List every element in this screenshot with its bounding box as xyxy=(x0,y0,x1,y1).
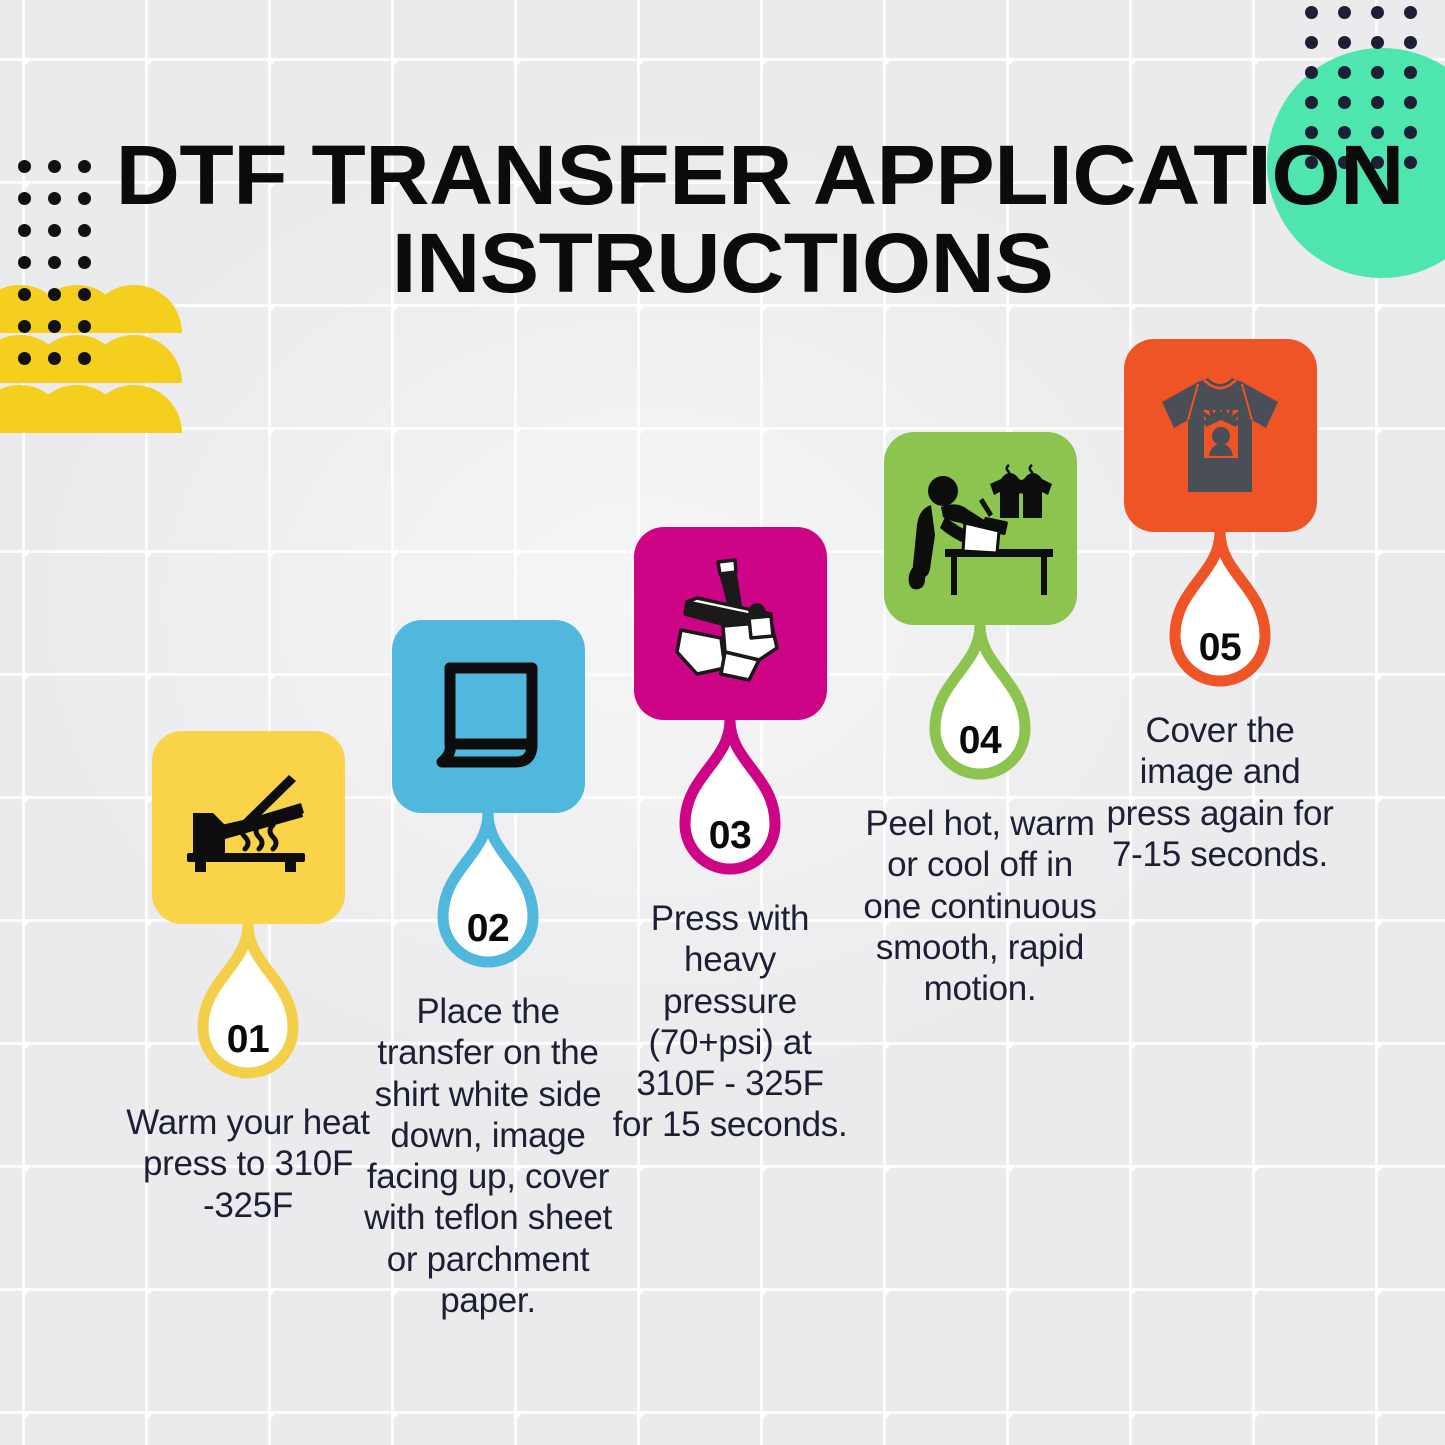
decoration-dot xyxy=(18,192,31,205)
decoration-dot xyxy=(18,256,31,269)
decoration-dot xyxy=(48,320,61,333)
dot-grid-left-decoration xyxy=(18,160,138,400)
step-02-number-pin: 02 xyxy=(429,809,547,977)
decoration-dot xyxy=(18,224,31,237)
step-02-number: 02 xyxy=(429,907,547,951)
decoration-dot xyxy=(18,160,31,173)
heat-press-open-icon xyxy=(183,773,313,883)
step-05-number: 05 xyxy=(1161,626,1279,670)
decoration-dot xyxy=(78,352,91,365)
step-03-icon-card xyxy=(634,527,827,720)
step-02[interactable]: 02 Place the transfer on the shirt white… xyxy=(363,620,613,1321)
step-02-text: Place the transfer on the shirt white si… xyxy=(363,991,613,1321)
decoration-dot xyxy=(48,192,61,205)
step-01-number-pin: 01 xyxy=(189,920,307,1088)
decoration-dot xyxy=(18,352,31,365)
decoration-dot xyxy=(48,352,61,365)
step-03-text: Press with heavy pressure (70+psi) at 31… xyxy=(613,898,848,1146)
step-01-text: Warm your heat press to 310F -325F xyxy=(123,1102,373,1226)
step-05-icon-card xyxy=(1124,339,1317,532)
decoration-dot xyxy=(78,256,91,269)
step-02-icon-card xyxy=(392,620,585,813)
decoration-dot xyxy=(48,256,61,269)
step-01-icon-card xyxy=(152,731,345,924)
decoration-dot xyxy=(18,320,31,333)
heat-press-machine-icon xyxy=(663,556,798,691)
step-05-number-pin: 05 xyxy=(1161,528,1279,696)
step-01[interactable]: 01 Warm your heat press to 310F -325F xyxy=(123,731,373,1226)
step-04-number-pin: 04 xyxy=(921,621,1039,789)
step-01-number: 01 xyxy=(189,1018,307,1062)
steps-container: 01 Warm your heat press to 310F -325F 02 xyxy=(0,0,1445,1445)
step-03-number: 03 xyxy=(671,814,789,858)
step-03-number-pin: 03 xyxy=(671,716,789,884)
transfer-sheet-icon xyxy=(428,658,548,776)
step-05[interactable]: 05 Cover the image and press again for 7… xyxy=(1095,339,1345,875)
decoration-dot xyxy=(78,160,91,173)
decoration-dot xyxy=(48,160,61,173)
step-04-icon-card xyxy=(884,432,1077,625)
decoration-dot xyxy=(48,224,61,237)
peel-transfer-person-icon xyxy=(905,461,1055,596)
decoration-dot xyxy=(78,224,91,237)
decoration-dot xyxy=(48,288,61,301)
decoration-dot xyxy=(78,320,91,333)
step-04-text: Peel hot, warm or cool off in one contin… xyxy=(863,803,1098,1009)
step-04-number: 04 xyxy=(921,719,1039,763)
decoration-dot xyxy=(78,192,91,205)
decoration-dot xyxy=(18,288,31,301)
printed-tshirt-icon xyxy=(1154,370,1286,502)
step-05-text: Cover the image and press again for 7-15… xyxy=(1095,710,1345,875)
step-03[interactable]: 03 Press with heavy pressure (70+psi) at… xyxy=(605,527,855,1146)
decoration-dot xyxy=(78,288,91,301)
step-04[interactable]: 04 Peel hot, warm or cool off in one con… xyxy=(855,432,1105,1009)
